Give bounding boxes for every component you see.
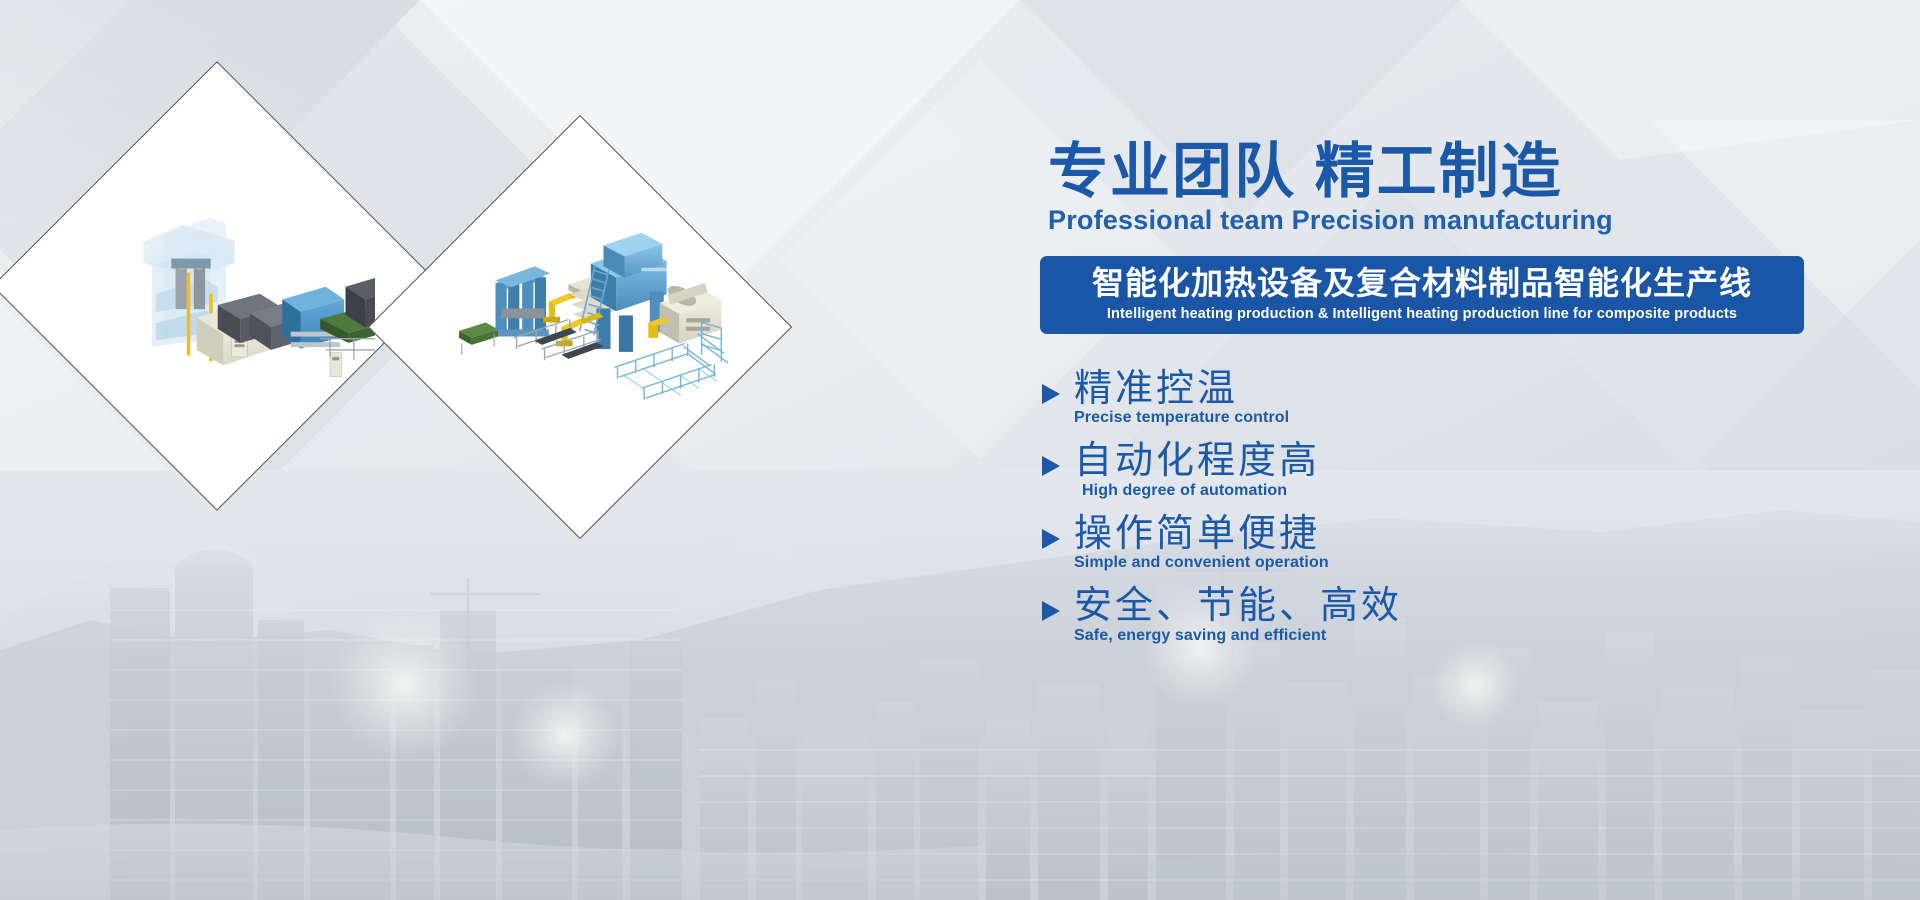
feature-label-english: Safe, energy saving and efficient (1074, 627, 1800, 645)
feature-item: 精准控温 Precise temperature control (1040, 368, 1800, 428)
promotional-banner: 专业团队 精工制造 Professional team Precision ma… (0, 0, 1920, 900)
headline-chinese: 专业团队 精工制造 (1048, 140, 1800, 203)
feature-label-chinese: 操作简单便捷 (1074, 513, 1320, 555)
feature-item: 自动化程度高 High degree of automation (1040, 440, 1800, 500)
triangle-right-icon (1040, 440, 1074, 478)
feature-item: 操作简单便捷 Simple and convenient operation (1040, 513, 1800, 573)
feature-label-chinese: 安全、节能、高效 (1074, 585, 1402, 627)
feature-label-english: Precise temperature control (1074, 409, 1800, 427)
product-banner-chinese: 智能化加热设备及复合材料制品智能化生产线 (1040, 265, 1804, 302)
headline-english: Professional team Precision manufacturin… (1048, 205, 1800, 236)
feature-list: 精准控温 Precise temperature control 自动化程度高 … (1040, 368, 1800, 645)
feature-label-english: High degree of automation (1074, 482, 1800, 500)
triangle-right-icon (1040, 585, 1074, 623)
banner-text-content: 专业团队 精工制造 Professional team Precision ma… (1040, 140, 1800, 658)
feature-label-chinese: 精准控温 (1074, 368, 1238, 410)
triangle-right-icon (1040, 368, 1074, 406)
feature-item: 安全、节能、高效 Safe, energy saving and efficie… (1040, 585, 1800, 645)
product-banner-box: 智能化加热设备及复合材料制品智能化生产线 Intelligent heating… (1040, 256, 1804, 334)
feature-label-english: Simple and convenient operation (1074, 554, 1800, 572)
triangle-right-icon (1040, 513, 1074, 551)
product-banner-english: Intelligent heating production & Intelli… (1040, 305, 1804, 324)
feature-label-chinese: 自动化程度高 (1074, 440, 1320, 482)
